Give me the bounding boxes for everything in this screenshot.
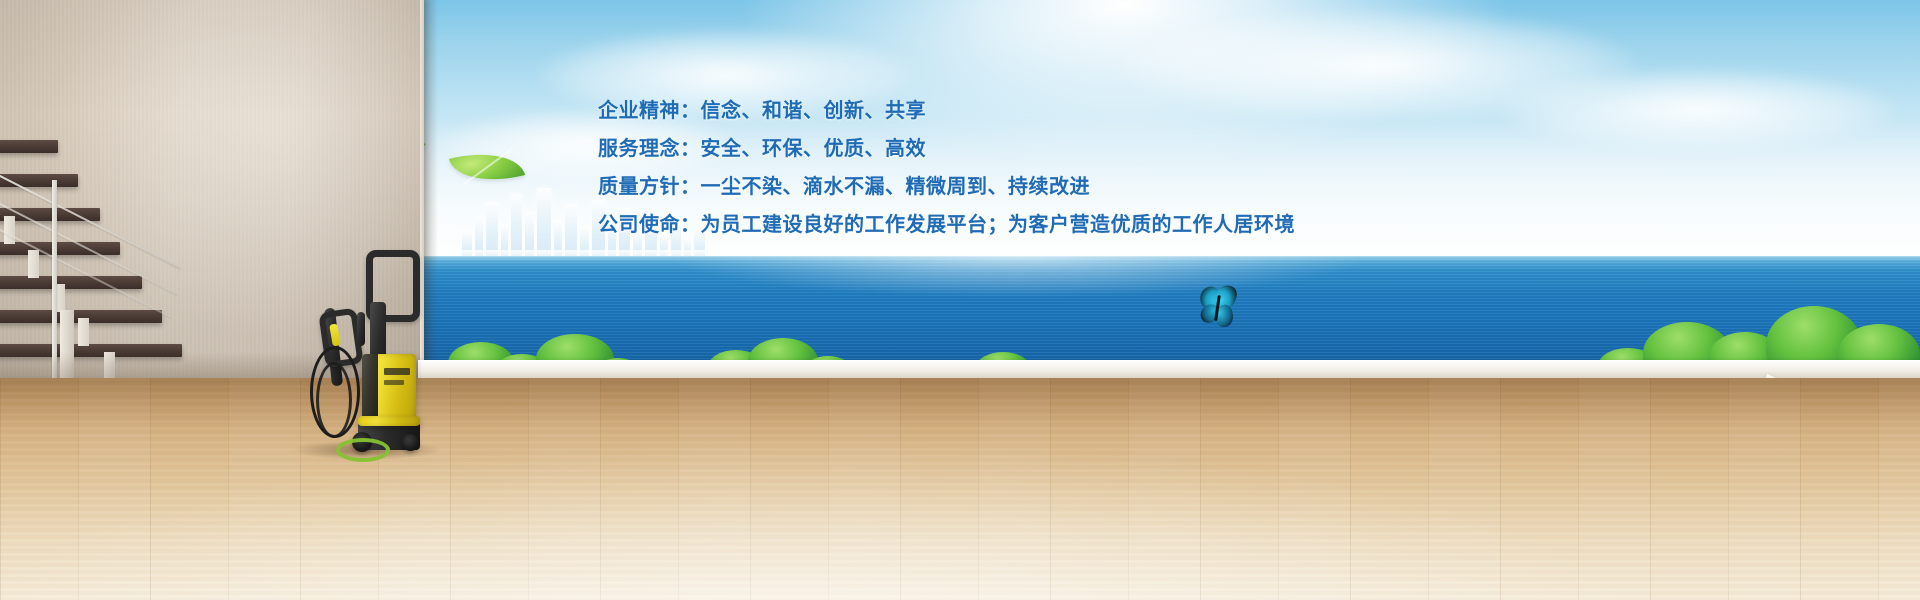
philosophy-line-service: 服务理念：安全、环保、优质、高效 — [598, 130, 1358, 168]
washer-wheel — [402, 434, 419, 451]
washer-label — [384, 380, 404, 385]
philosophy-line-mission: 公司使命：为员工建设良好的工作发展平台；为客户营造优质的工作人居环境 — [598, 206, 1358, 244]
washer-label — [384, 368, 410, 375]
wooden-floor — [0, 378, 1920, 600]
stair-handrail — [0, 114, 164, 290]
garden-hose — [336, 438, 390, 462]
company-philosophy-text: 企业精神：信念、和谐、创新、共享 服务理念：安全、环保、优质、高效 质量方针：一… — [598, 92, 1358, 244]
washer-base-accent — [358, 416, 420, 426]
philosophy-line-quality: 质量方针：一尘不染、滴水不漏、精微周到、持续改进 — [598, 168, 1358, 206]
pressure-washer — [300, 250, 440, 460]
banner-stage: 企业精神：信念、和谐、创新、共享 服务理念：安全、环保、优质、高效 质量方针：一… — [0, 0, 1920, 600]
philosophy-line-spirit: 企业精神：信念、和谐、创新、共享 — [598, 92, 1358, 130]
hose-coil — [316, 362, 352, 438]
floor-reflection — [0, 378, 1920, 600]
